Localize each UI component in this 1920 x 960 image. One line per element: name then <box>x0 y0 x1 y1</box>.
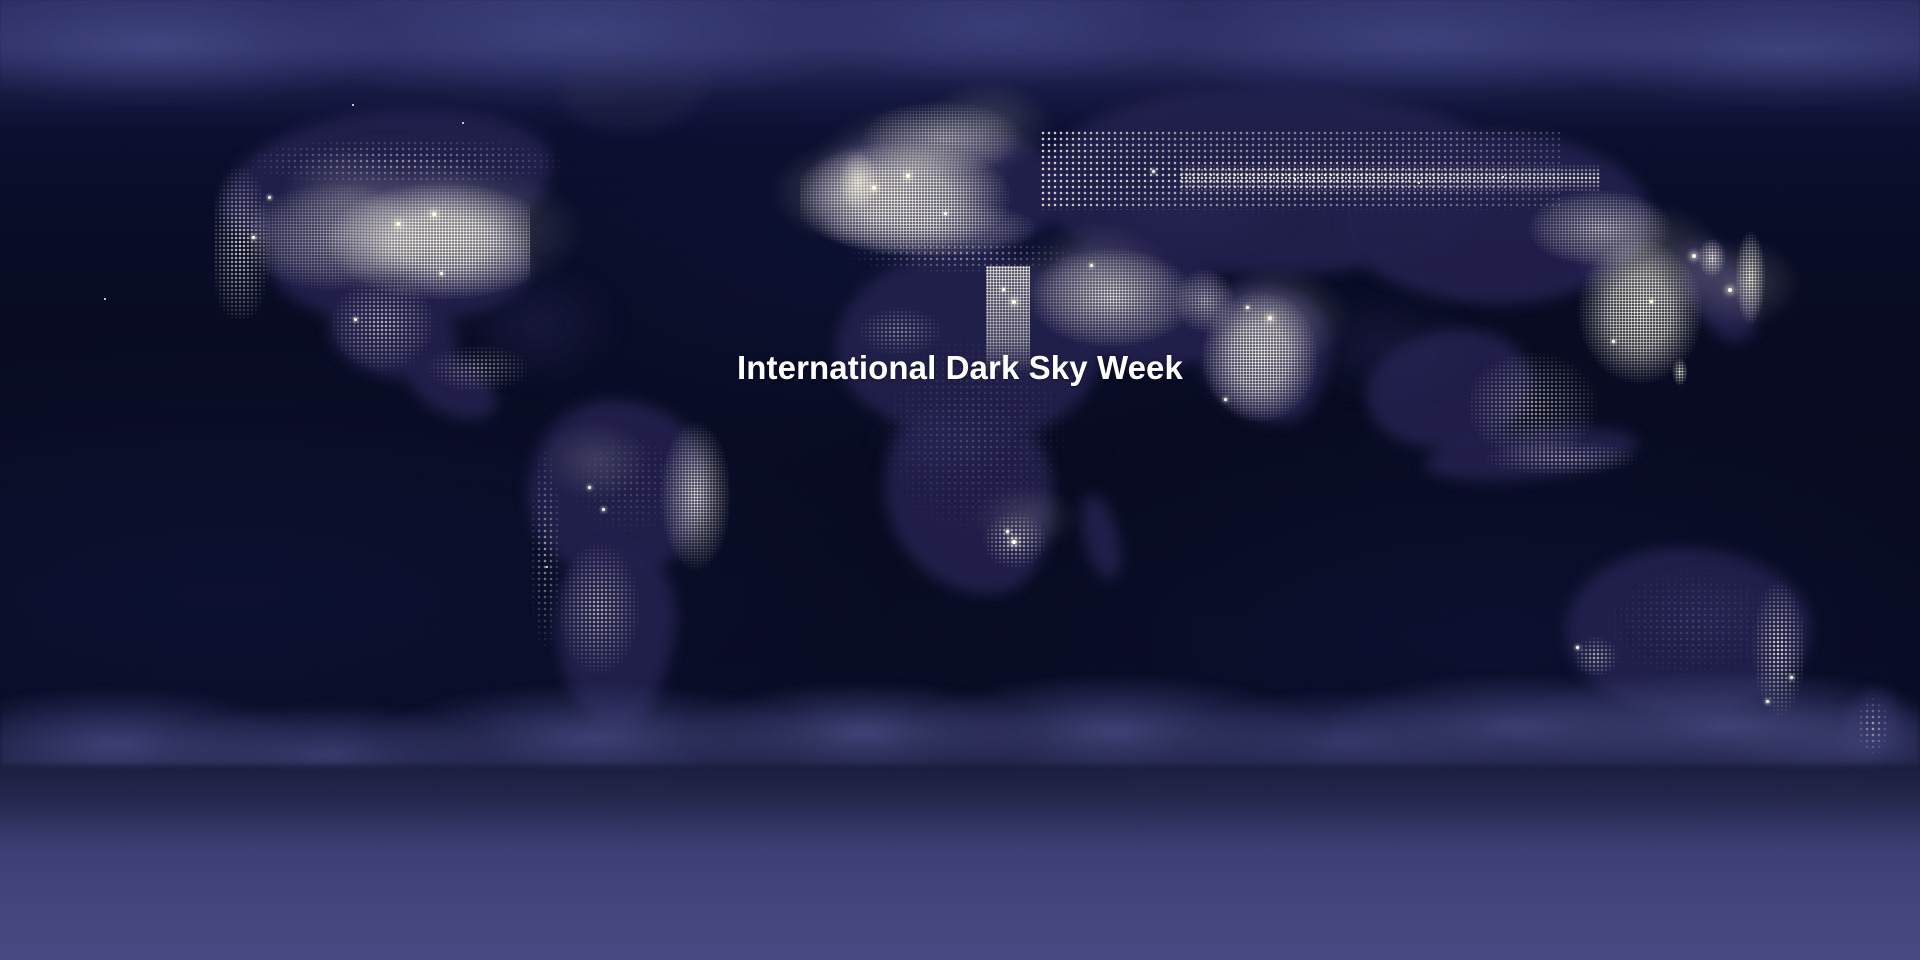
hero-banner: International Dark Sky Week <box>0 0 1920 960</box>
arctic-ice-texture <box>0 0 1920 150</box>
antarctica-coastline <box>0 675 1920 765</box>
world-map-night-lights <box>0 0 1920 960</box>
